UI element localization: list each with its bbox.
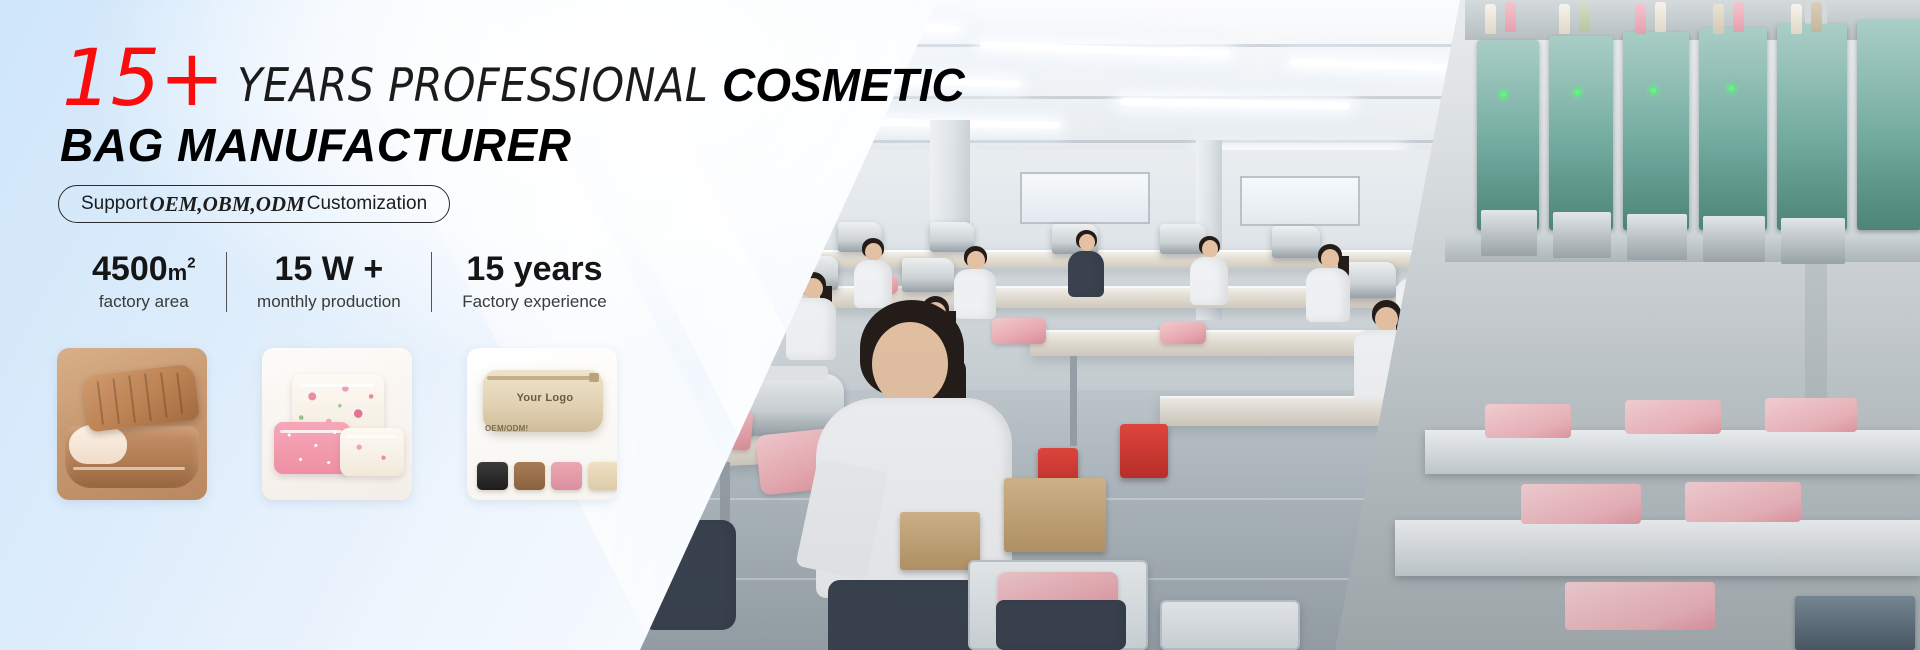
embroidery-head bbox=[1623, 32, 1689, 230]
stat-monthly-production: 15 W + monthly production bbox=[227, 246, 431, 318]
stat-divider bbox=[431, 252, 433, 312]
embroidery-head bbox=[1549, 36, 1613, 230]
worker-head bbox=[865, 243, 882, 261]
machine-frame bbox=[1465, 0, 1920, 40]
worker-head bbox=[1079, 234, 1095, 251]
bag-rib bbox=[176, 372, 183, 414]
support-prefix: Support bbox=[81, 193, 148, 215]
stat-number: 15 W + bbox=[275, 250, 384, 288]
needle-bar bbox=[1627, 214, 1687, 260]
worker-head bbox=[1375, 307, 1398, 331]
years-count: 15+ bbox=[62, 34, 224, 124]
bag-rib bbox=[144, 373, 152, 421]
thread-cone bbox=[1559, 4, 1570, 34]
oem-odm-text: OEM/ODM! bbox=[485, 424, 528, 433]
support-suffix: Customization bbox=[307, 193, 427, 215]
thread-cone bbox=[1791, 4, 1802, 34]
stat-factory-experience: 15 years Factory experience bbox=[432, 246, 637, 318]
headline-line-1: 15+ YEARS PROFESSIONAL COSMETIC bbox=[62, 40, 942, 118]
bag-rib bbox=[128, 375, 136, 423]
bag-zipper bbox=[300, 384, 374, 387]
pink-fabric bbox=[1521, 484, 1641, 524]
conveyor-rail bbox=[1395, 520, 1920, 576]
stat-value: 4500m2 bbox=[92, 252, 196, 288]
table-leg bbox=[1070, 356, 1077, 446]
stool bbox=[1120, 424, 1168, 478]
stat-unit: m bbox=[168, 260, 188, 285]
stat-superscript: 2 bbox=[187, 254, 195, 271]
sewing-machine bbox=[902, 258, 954, 292]
worker-head bbox=[1202, 240, 1218, 258]
thread-cone bbox=[1635, 4, 1646, 34]
stat-label: Factory experience bbox=[462, 292, 607, 312]
status-led bbox=[1729, 86, 1734, 91]
stat-label: monthly production bbox=[257, 292, 401, 312]
bag-zipper bbox=[73, 467, 185, 470]
status-led bbox=[1501, 92, 1506, 97]
support-modes: OEM,OBM,ODM bbox=[148, 192, 307, 217]
window bbox=[1240, 176, 1360, 226]
pink-fabric bbox=[1625, 400, 1721, 434]
status-led bbox=[1575, 90, 1580, 95]
factory-worker bbox=[1062, 230, 1110, 296]
bag-zipper bbox=[280, 430, 342, 433]
pink-fabric bbox=[1765, 398, 1857, 432]
embroidery-head bbox=[1777, 24, 1847, 230]
color-swatch-row bbox=[477, 462, 617, 490]
cardboard-box bbox=[900, 512, 980, 570]
needle-bar bbox=[1703, 216, 1765, 262]
embroidery-head bbox=[1857, 20, 1920, 230]
thread-cone bbox=[1655, 2, 1666, 32]
factory-worker bbox=[1184, 236, 1234, 304]
thread-cone bbox=[1811, 2, 1822, 32]
machine-base bbox=[1795, 596, 1915, 650]
worker-torso bbox=[1068, 251, 1104, 297]
product-card-row: Your Logo OEM/ODM! bbox=[57, 348, 617, 500]
swatch-pink bbox=[551, 462, 582, 490]
thread-cone bbox=[1505, 2, 1516, 32]
promo-banner: 15+ YEARS PROFESSIONAL COSMETIC BAG MANU… bbox=[0, 0, 1920, 650]
embroidery-head bbox=[1477, 40, 1539, 230]
headline-line-2: BAG MANUFACTURER bbox=[60, 118, 571, 172]
swatch-black bbox=[477, 462, 508, 490]
stat-value: 15 W + bbox=[275, 252, 384, 288]
pink-fabric bbox=[1685, 482, 1801, 522]
worker-torso bbox=[1190, 257, 1228, 305]
stat-label: factory area bbox=[99, 292, 189, 312]
thread-cone bbox=[1733, 2, 1744, 32]
stat-factory-area: 4500m2 factory area bbox=[62, 246, 226, 318]
embroidery-head bbox=[1699, 28, 1767, 230]
swatch-brown bbox=[514, 462, 545, 490]
factory-worker bbox=[846, 238, 898, 308]
fabric-stack bbox=[996, 600, 1126, 650]
worker-torso bbox=[1306, 268, 1350, 322]
product-card-custom-logo-bag[interactable]: Your Logo OEM/ODM! bbox=[467, 348, 617, 500]
bag-lid bbox=[82, 363, 200, 432]
thread-cone bbox=[1713, 4, 1724, 34]
support-customization-badge: Support OEM,OBM,ODM Customization bbox=[58, 185, 450, 223]
thread-cone bbox=[1485, 4, 1496, 34]
product-card-floral-bags[interactable] bbox=[262, 348, 412, 500]
zipper-pull bbox=[589, 373, 599, 382]
needle-bar bbox=[1553, 212, 1611, 258]
cream-floral-bag bbox=[340, 428, 404, 476]
bag-rib bbox=[160, 372, 168, 418]
custom-logo-text: Your Logo bbox=[495, 392, 595, 404]
stat-number: 4500 bbox=[92, 250, 168, 288]
stat-number: 15 years bbox=[466, 250, 602, 288]
stats-row: 4500m2 factory area 15 W + monthly produ… bbox=[62, 246, 637, 318]
bag-zipper bbox=[346, 435, 396, 438]
bag-rib bbox=[97, 381, 104, 425]
stat-value: 15 years bbox=[466, 252, 602, 288]
window bbox=[1020, 172, 1150, 224]
worker-head bbox=[967, 251, 985, 270]
status-led bbox=[1651, 88, 1656, 93]
thread-cone bbox=[1579, 2, 1590, 32]
pink-fabric bbox=[1485, 404, 1571, 438]
pink-bag-piece bbox=[1160, 322, 1206, 344]
cardboard-box bbox=[1004, 478, 1106, 552]
swatch-beige bbox=[588, 462, 617, 490]
pink-dot-bag bbox=[274, 422, 350, 474]
needle-bar bbox=[1781, 218, 1845, 264]
product-card-tan-leather-bag[interactable] bbox=[57, 348, 207, 500]
bag-zipper bbox=[487, 376, 599, 380]
bag-rib bbox=[112, 378, 120, 424]
headline-years: YEARS PROFESSIONAL bbox=[224, 58, 722, 112]
worker-head bbox=[1321, 249, 1339, 269]
pink-fabric bbox=[1565, 582, 1715, 630]
headline-accent: COSMETIC bbox=[722, 59, 965, 111]
worker-head bbox=[872, 322, 948, 406]
storage-bin bbox=[1160, 600, 1300, 650]
needle-bar bbox=[1481, 210, 1537, 256]
stat-divider bbox=[226, 252, 228, 312]
